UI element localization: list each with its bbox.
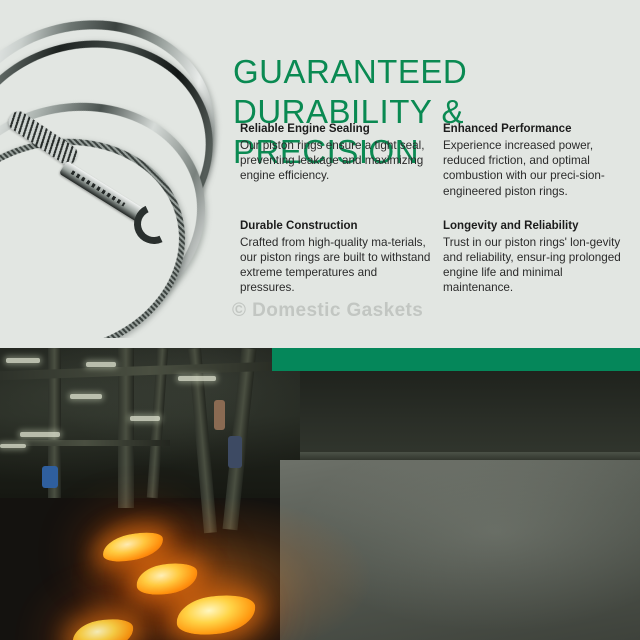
hot-billet: [70, 615, 136, 640]
feature-title: Reliable Engine Sealing: [240, 122, 432, 137]
factory-photo: 15: [0, 348, 640, 640]
feature-body: Experience increased power, reduced fric…: [443, 138, 635, 199]
ceiling-light: [6, 358, 40, 363]
product-photo-piston-rings: [0, 8, 236, 338]
hot-billet: [134, 559, 200, 598]
hot-billet: [174, 591, 259, 640]
ceiling-light: [20, 432, 60, 437]
green-divider-bar: [272, 348, 640, 371]
feature-item-reliable-engine-sealing: Reliable Engine Sealing Our piston rings…: [240, 122, 432, 199]
feature-body: Our piston rings ensure a tight seal, pr…: [240, 138, 432, 184]
ceiling-light: [130, 416, 160, 421]
feature-body: Crafted from high-quality ma-terials, ou…: [240, 235, 432, 296]
worker-figure: [214, 400, 225, 430]
hot-billet: [100, 528, 166, 566]
feature-item-durable-construction: Durable Construction Crafted from high-q…: [240, 219, 432, 296]
top-panel: GUARANTEED DURABILITY & PRECISION Reliab…: [0, 0, 640, 348]
feature-item-enhanced-performance: Enhanced Performance Experience increase…: [443, 122, 635, 199]
ceiling-light: [70, 394, 102, 399]
worker-figure: [42, 466, 58, 488]
ceiling-light: [0, 444, 26, 448]
ceiling-light: [86, 362, 116, 367]
feature-grid: Reliable Engine Sealing Our piston rings…: [240, 122, 632, 296]
feature-title: Durable Construction: [240, 219, 432, 234]
concrete-floor: [280, 460, 640, 640]
feature-item-longevity-and-reliability: Longevity and Reliability Trust in our p…: [443, 219, 635, 296]
feature-title: Longevity and Reliability: [443, 219, 635, 234]
watermark: © Domestic Gaskets: [232, 300, 462, 322]
feature-title: Enhanced Performance: [443, 122, 635, 137]
feature-body: Trust in our piston rings' lon-gevity an…: [443, 235, 635, 296]
worker-figure: [228, 436, 242, 468]
poster: GUARANTEED DURABILITY & PRECISION Reliab…: [0, 0, 640, 640]
ceiling-light: [178, 376, 216, 381]
